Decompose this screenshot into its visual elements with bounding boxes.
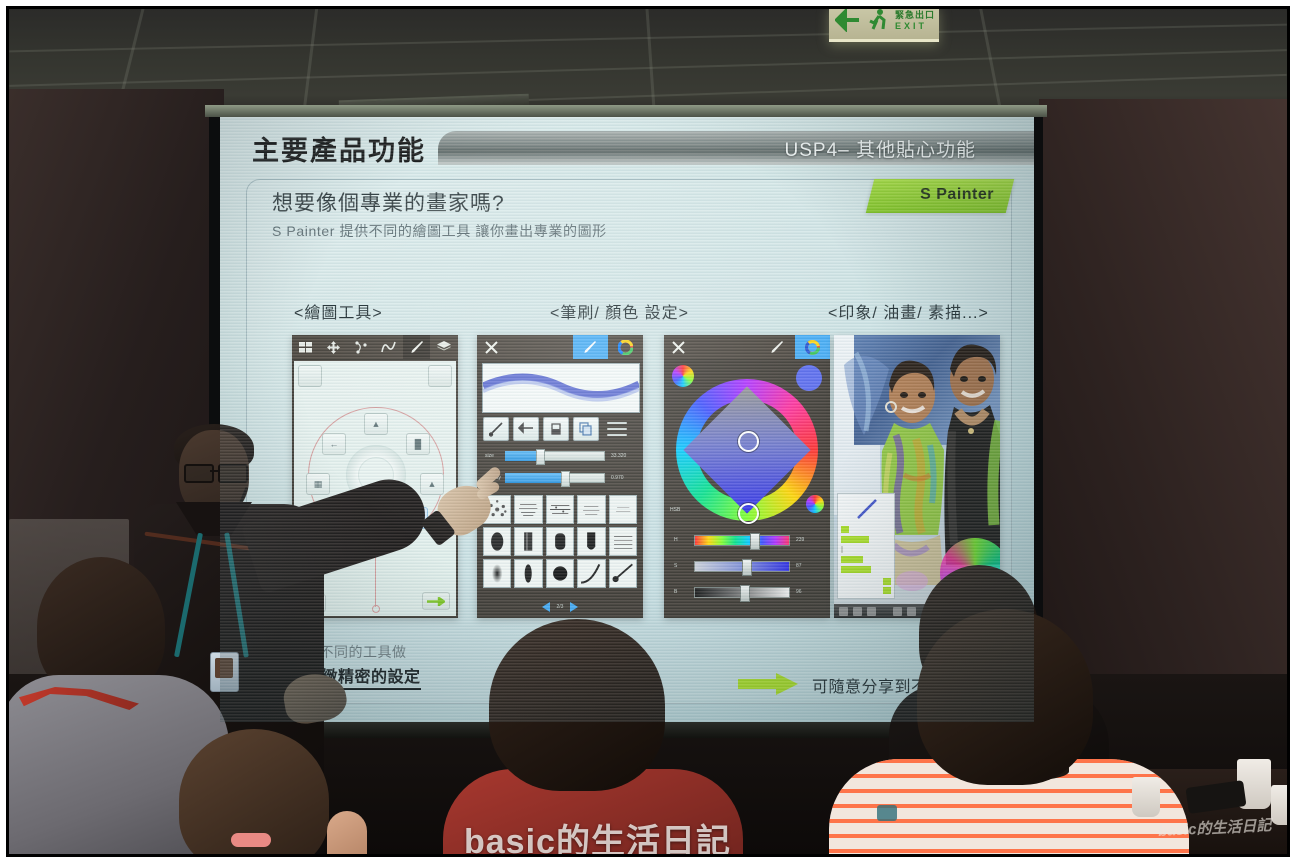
audience-head — [489, 619, 665, 791]
hue-label: H — [674, 537, 678, 543]
slide-lead-text: 想要像個專業的畫家嗎? — [272, 187, 505, 217]
watermark-main: basic的生活日記 — [464, 814, 731, 854]
brush-thumbnail[interactable] — [546, 527, 574, 556]
pen-icon[interactable] — [573, 335, 608, 359]
glasses-right-lens — [218, 464, 248, 483]
slide-subtitle: USP4– 其他貼心功能 — [785, 135, 976, 162]
close-icon[interactable] — [477, 335, 573, 359]
brush-opacity-slider[interactable] — [505, 473, 605, 483]
copy-icon[interactable] — [573, 417, 599, 441]
brush-thumbnail-grid — [483, 495, 637, 588]
brush-thumbnail[interactable] — [577, 527, 605, 556]
ceiling-grid-line — [302, 9, 320, 119]
brush-thumbnail[interactable] — [514, 495, 542, 524]
raised-thumb — [327, 811, 367, 854]
brush-icon[interactable] — [483, 417, 509, 441]
brightness-label: B — [674, 589, 677, 595]
sv-selector-ring[interactable] — [738, 431, 759, 452]
grid-icon[interactable] — [292, 335, 320, 359]
glasses-left-lens — [184, 464, 214, 483]
color-mode-label: HSB — [670, 507, 680, 513]
layers-icon[interactable] — [430, 335, 458, 359]
close-icon[interactable] — [664, 335, 760, 359]
overlay-row[interactable] — [841, 546, 891, 553]
transform-icon[interactable] — [347, 335, 375, 359]
hue-value: 239 — [796, 537, 804, 543]
brush-thumbnail[interactable] — [577, 559, 605, 588]
brush-thumbnail[interactable] — [609, 527, 637, 556]
s-painter-badge-label: S Painter — [920, 186, 994, 204]
brush-opacity-value: 0.970 — [611, 475, 624, 481]
hue-selector-ring[interactable] — [738, 503, 759, 524]
exit-arrow-icon — [835, 9, 861, 32]
overlay-row[interactable] — [841, 566, 891, 573]
presenter-glasses — [184, 464, 246, 479]
ceiling-grid-line — [645, 9, 656, 119]
saturation-slider[interactable] — [694, 561, 790, 572]
paper-cup — [1271, 785, 1287, 825]
brush-thumbnail[interactable] — [609, 495, 637, 524]
ceiling-grid-line — [978, 9, 1004, 118]
color-picker-panel: HSB H 239 S 87 — [664, 335, 830, 618]
audience-striped-shirt — [829, 609, 1189, 854]
panel2-toolbar — [477, 335, 643, 359]
share-arrow-icon — [738, 673, 798, 695]
brush-size-value: 33.320 — [611, 453, 626, 459]
sleeve-tag — [877, 805, 897, 821]
color-wheel-icon[interactable] — [795, 335, 830, 359]
pen-icon[interactable] — [403, 335, 431, 359]
brightness-slider[interactable] — [694, 587, 790, 598]
emergency-exit-sign: 緊急出口 EXIT — [829, 9, 939, 42]
column-header-tools: <繪圖工具> — [294, 299, 383, 323]
overlay-stroke-preview — [840, 496, 892, 522]
brush-size-slider[interactable] — [505, 451, 605, 461]
shuffle-button[interactable] — [428, 365, 452, 387]
menu-icon[interactable] — [607, 420, 627, 438]
eraser-icon[interactable] — [513, 417, 539, 441]
overlay-row[interactable] — [841, 556, 891, 563]
running-person-icon — [865, 9, 891, 33]
curve-icon[interactable] — [375, 335, 403, 359]
pen-icon[interactable] — [760, 335, 795, 359]
glasses-bridge — [210, 470, 218, 472]
saturation-label: S — [674, 563, 677, 569]
audience-head — [917, 609, 1093, 785]
brush-tool-row — [483, 417, 637, 441]
panel3-toolbar — [664, 335, 830, 359]
column-header-brush: <筆刷/ 顏色 設定> — [550, 299, 689, 323]
brush-thumbnail[interactable] — [577, 495, 605, 524]
prev-page-button[interactable] — [542, 602, 550, 612]
color-wheel-icon[interactable] — [608, 335, 643, 359]
page-indicator: 2/3 — [557, 604, 564, 610]
brush-stroke-preview — [482, 363, 640, 413]
screen-top-rail — [205, 105, 1047, 117]
pink-hair-tie — [231, 833, 271, 847]
panel1-toolbar — [292, 335, 458, 359]
brush-thumbnail[interactable] — [546, 495, 574, 524]
hue-slider[interactable] — [694, 535, 790, 546]
brush-page-pager: 2/3 — [477, 602, 643, 612]
brush-thumbnail[interactable] — [546, 559, 574, 588]
paper-cup — [1132, 777, 1160, 817]
brush-thumbnail[interactable] — [483, 559, 511, 588]
undo-button[interactable] — [298, 365, 322, 387]
brush-thumbnail[interactable] — [609, 559, 637, 588]
brush-size-label: size — [485, 453, 494, 459]
column-header-styles: <印象/ 油畫/ 素描...> — [828, 299, 989, 323]
move-icon[interactable] — [320, 335, 348, 359]
exit-sign-english: EXIT — [895, 21, 927, 31]
hue-wheel[interactable] — [676, 379, 818, 521]
secondary-color-icon[interactable] — [806, 495, 824, 513]
brightness-value: 96 — [796, 589, 802, 595]
next-page-button[interactable] — [570, 602, 578, 612]
brush-thumbnail[interactable] — [514, 527, 542, 556]
overlay-row[interactable] — [841, 587, 891, 594]
artwork-settings-overlay[interactable] — [837, 493, 895, 599]
saturation-value: 87 — [796, 563, 802, 569]
audience-ponytail — [159, 729, 389, 854]
brush-thumbnail[interactable] — [483, 527, 511, 556]
brush-thumbnail[interactable] — [514, 559, 542, 588]
overlay-row[interactable] — [841, 526, 891, 533]
presenter-raised-arm — [241, 470, 434, 594]
exit-sign-chinese: 緊急出口 — [895, 9, 935, 21]
slide-title: 主要產品功能 — [252, 129, 426, 168]
overlay-row[interactable] — [841, 578, 891, 585]
brush-settings-panel: size 33.320 opacity 0.970 — [477, 335, 643, 618]
slide-sub-text: S Painter 提供不同的繪圖工具 讓你畫出專業的圖形 — [272, 221, 607, 241]
conference-room: 緊急出口 EXIT 主要產品功能 USP4– 其他貼心功能 想要像個專業的畫家嗎… — [9, 9, 1287, 854]
photograph: 緊急出口 EXIT 主要產品功能 USP4– 其他貼心功能 想要像個專業的畫家嗎… — [0, 0, 1296, 863]
overlay-row[interactable] — [841, 536, 891, 543]
fill-icon[interactable] — [543, 417, 569, 441]
